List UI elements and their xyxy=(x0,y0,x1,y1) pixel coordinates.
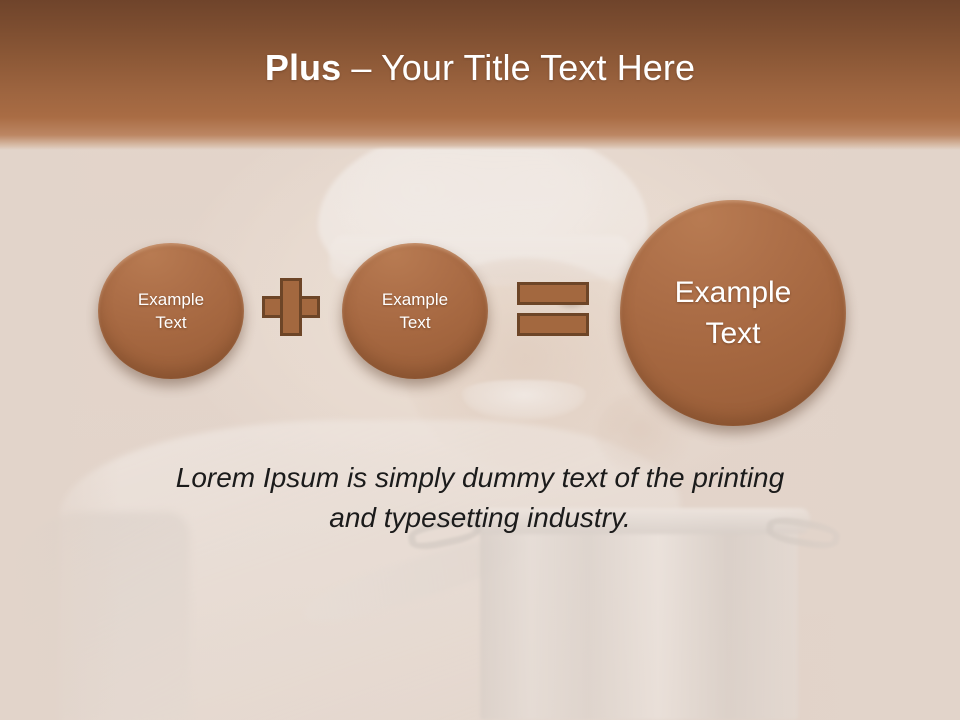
diagram-bubble-2-line2: Text xyxy=(399,313,430,332)
equals-icon-bottom-bar xyxy=(517,313,589,336)
diagram-bubble-2-label: ExampleText xyxy=(382,288,448,335)
slide-caption: Lorem Ipsum is simply dummy text of the … xyxy=(110,458,850,538)
diagram-bubble-2[interactable]: ExampleText xyxy=(342,243,488,379)
equals-icon-top-bar xyxy=(517,282,589,305)
diagram-bubble-3-line2: Text xyxy=(705,317,760,350)
equals-icon xyxy=(517,282,589,336)
plus-icon-center-patch xyxy=(283,299,299,315)
equation-diagram: ExampleText ExampleText ExampleText xyxy=(0,0,960,720)
diagram-bubble-3-line1: Example xyxy=(675,276,792,309)
slide-caption-line2: and typesetting industry. xyxy=(329,502,630,533)
diagram-bubble-3-label: ExampleText xyxy=(675,272,792,355)
slide-caption-line1: Lorem Ipsum is simply dummy text of the … xyxy=(176,462,784,493)
diagram-bubble-1-line1: Example xyxy=(138,290,204,309)
diagram-bubble-1[interactable]: ExampleText xyxy=(98,243,244,379)
diagram-bubble-1-label: ExampleText xyxy=(138,288,204,335)
slide-canvas: Plus – Your Title Text Here ExampleText … xyxy=(0,0,960,720)
plus-icon xyxy=(262,278,320,336)
diagram-bubble-1-line2: Text xyxy=(155,313,186,332)
diagram-bubble-3[interactable]: ExampleText xyxy=(620,200,846,426)
diagram-bubble-2-line1: Example xyxy=(382,290,448,309)
